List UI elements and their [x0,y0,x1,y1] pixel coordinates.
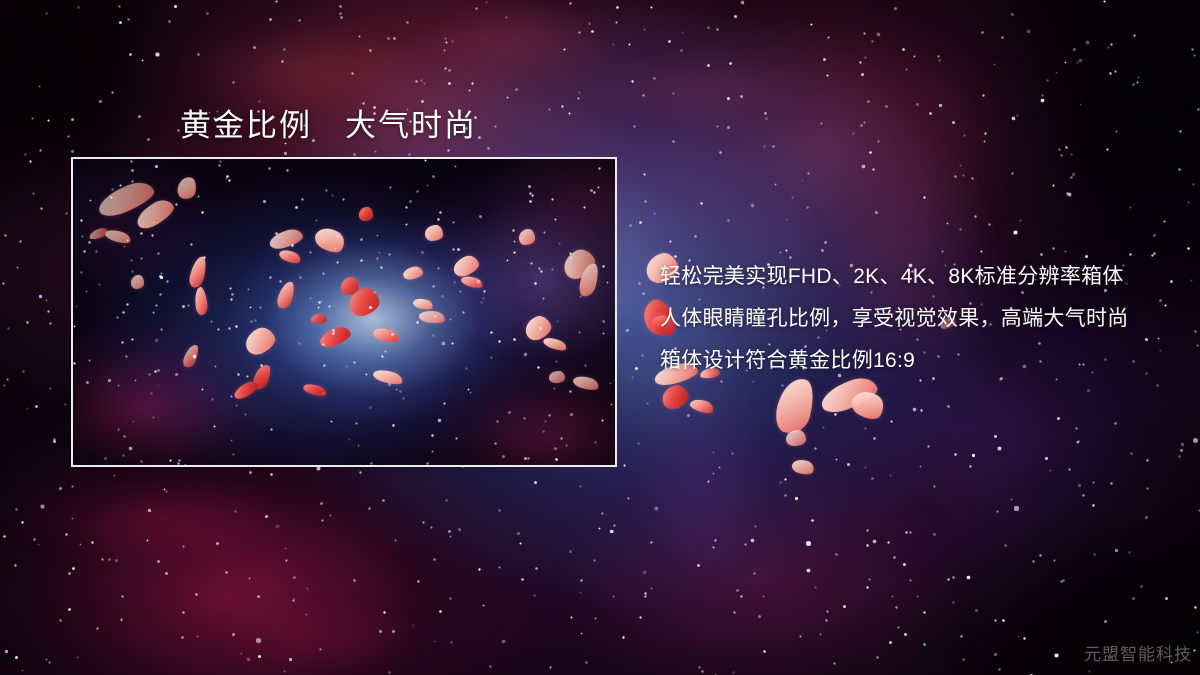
slide-canvas: 黄金比例 大气时尚 轻松完美实现FHD、2K、4K、8K标准分辨率箱体 人体眼睛… [0,0,1200,675]
rose-petal [786,430,806,446]
body-line-1: 轻松完美实现FHD、2K、4K、8K标准分辨率箱体 [660,256,1180,298]
picture-vignette [73,159,615,465]
framed-image [71,157,617,467]
body-line-2: 人体眼睛瞳孔比例，享受视觉效果，高端大气时尚 [660,298,1180,340]
star-dot-cluster [73,159,74,160]
body-line-3: 箱体设计符合黄金比例16:9 [660,340,1180,382]
watermark: 元盟智能科技 [1084,640,1192,665]
star-dot-cluster [0,0,1,1]
page-title: 黄金比例 大气时尚 [180,100,477,145]
body-copy: 轻松完美实现FHD、2K、4K、8K标准分辨率箱体 人体眼睛瞳孔比例，享受视觉效… [660,256,1180,382]
